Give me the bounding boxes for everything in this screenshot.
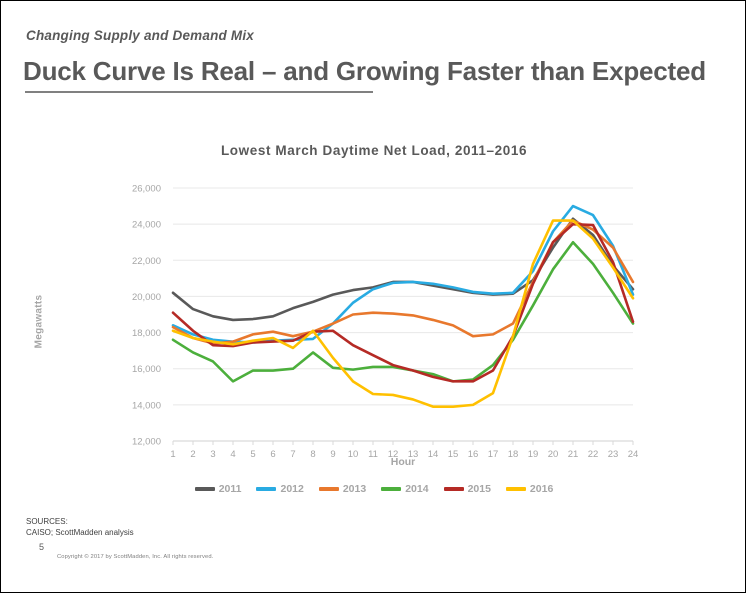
legend-item-2014[interactable]: 2014	[381, 483, 428, 495]
legend-item-2016[interactable]: 2016	[506, 483, 553, 495]
copyright-notice: Copyright © 2017 by ScottMadden, Inc. Al…	[57, 554, 213, 560]
series-line-2012	[173, 206, 633, 342]
legend-label: 2014	[405, 483, 428, 495]
legend-swatch-icon	[319, 487, 339, 491]
y-tick-label: 16,000	[132, 364, 161, 375]
legend-label: 2011	[219, 483, 242, 495]
page-number: 5	[39, 542, 44, 552]
y-tick-label: 14,000	[132, 400, 161, 411]
sources-block: SOURCES: CAISO; ScottMadden analysis	[26, 517, 134, 539]
legend-item-2011[interactable]: 2011	[195, 483, 242, 495]
y-tick-label: 18,000	[132, 328, 161, 339]
sources-label: SOURCES:	[26, 517, 134, 528]
y-tick-label: 22,000	[132, 256, 161, 267]
y-tick-label: 26,000	[132, 184, 161, 195]
legend-swatch-icon	[444, 487, 464, 491]
series-line-2015	[173, 224, 633, 381]
x-axis-line	[173, 441, 633, 445]
chart-container: Lowest March Daytime Net Load, 2011–2016…	[1, 131, 746, 521]
slide-headline: Duck Curve Is Real – and Growing Faster …	[23, 56, 706, 87]
legend-label: 2015	[468, 483, 491, 495]
legend-swatch-icon	[506, 487, 526, 491]
slide-canvas: Changing Supply and Demand Mix Duck Curv…	[0, 0, 746, 593]
legend-label: 2012	[280, 483, 303, 495]
series-lines	[173, 206, 633, 407]
chart-legend: 201120122013201420152016	[1, 483, 746, 495]
slide-eyebrow: Changing Supply and Demand Mix	[26, 28, 254, 43]
legend-swatch-icon	[381, 487, 401, 491]
series-line-2014	[173, 242, 633, 381]
y-tick-label: 20,000	[132, 292, 161, 303]
legend-label: 2013	[343, 483, 366, 495]
legend-label: 2016	[530, 483, 553, 495]
x-axis-title: Hour	[173, 456, 633, 468]
legend-swatch-icon	[195, 487, 215, 491]
legend-swatch-icon	[256, 487, 276, 491]
sources-text: CAISO; ScottMadden analysis	[26, 528, 134, 539]
y-tick-label: 12,000	[132, 437, 161, 448]
y-tick-label: 24,000	[132, 220, 161, 231]
legend-item-2012[interactable]: 2012	[256, 483, 303, 495]
legend-item-2013[interactable]: 2013	[319, 483, 366, 495]
y-tick-labels: 12,00014,00016,00018,00020,00022,00024,0…	[132, 184, 161, 448]
headline-underline	[25, 91, 373, 93]
legend-item-2015[interactable]: 2015	[444, 483, 491, 495]
